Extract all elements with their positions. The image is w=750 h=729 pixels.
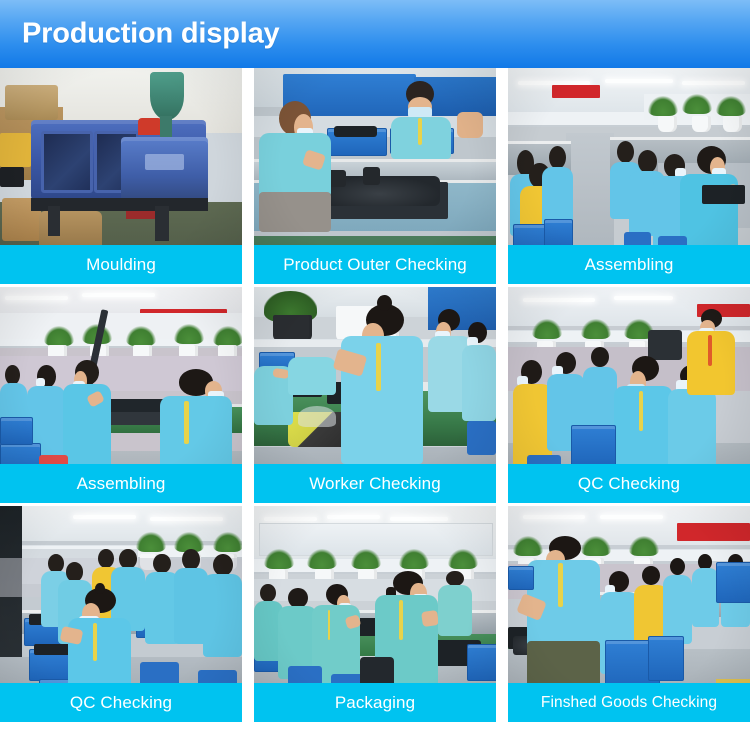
gallery-item-product-outer-checking[interactable]: Product Outer Checking: [254, 68, 496, 284]
gallery-item-assembling-1[interactable]: Assembling: [508, 68, 750, 284]
caption-moulding: Moulding: [0, 245, 242, 284]
caption-packaging: Packaging: [254, 683, 496, 722]
caption-qc-checking-2: QC Checking: [0, 683, 242, 722]
production-gallery-grid: Moulding: [0, 68, 750, 722]
gallery-item-finished-goods-checking[interactable]: Finshed Goods Checking: [508, 506, 750, 722]
caption-assembling-2: Assembling: [0, 464, 242, 503]
page-header-banner: Production display: [0, 0, 750, 68]
page-title: Production display: [22, 18, 279, 51]
gallery-item-worker-checking[interactable]: Worker Checking: [254, 287, 496, 503]
production-display-page: Production display: [0, 0, 750, 729]
gallery-item-packaging[interactable]: Packaging: [254, 506, 496, 722]
gallery-item-assembling-2[interactable]: Assembling: [0, 287, 242, 503]
caption-worker-checking: Worker Checking: [254, 464, 496, 503]
gallery-item-qc-checking-1[interactable]: QC Checking: [508, 287, 750, 503]
caption-product-outer-checking: Product Outer Checking: [254, 245, 496, 284]
caption-finished-goods-checking: Finshed Goods Checking: [508, 683, 750, 722]
caption-qc-checking-1: QC Checking: [508, 464, 750, 503]
gallery-item-qc-checking-2[interactable]: QC Checking: [0, 506, 242, 722]
gallery-item-moulding[interactable]: Moulding: [0, 68, 242, 284]
caption-assembling-1: Assembling: [508, 245, 750, 284]
